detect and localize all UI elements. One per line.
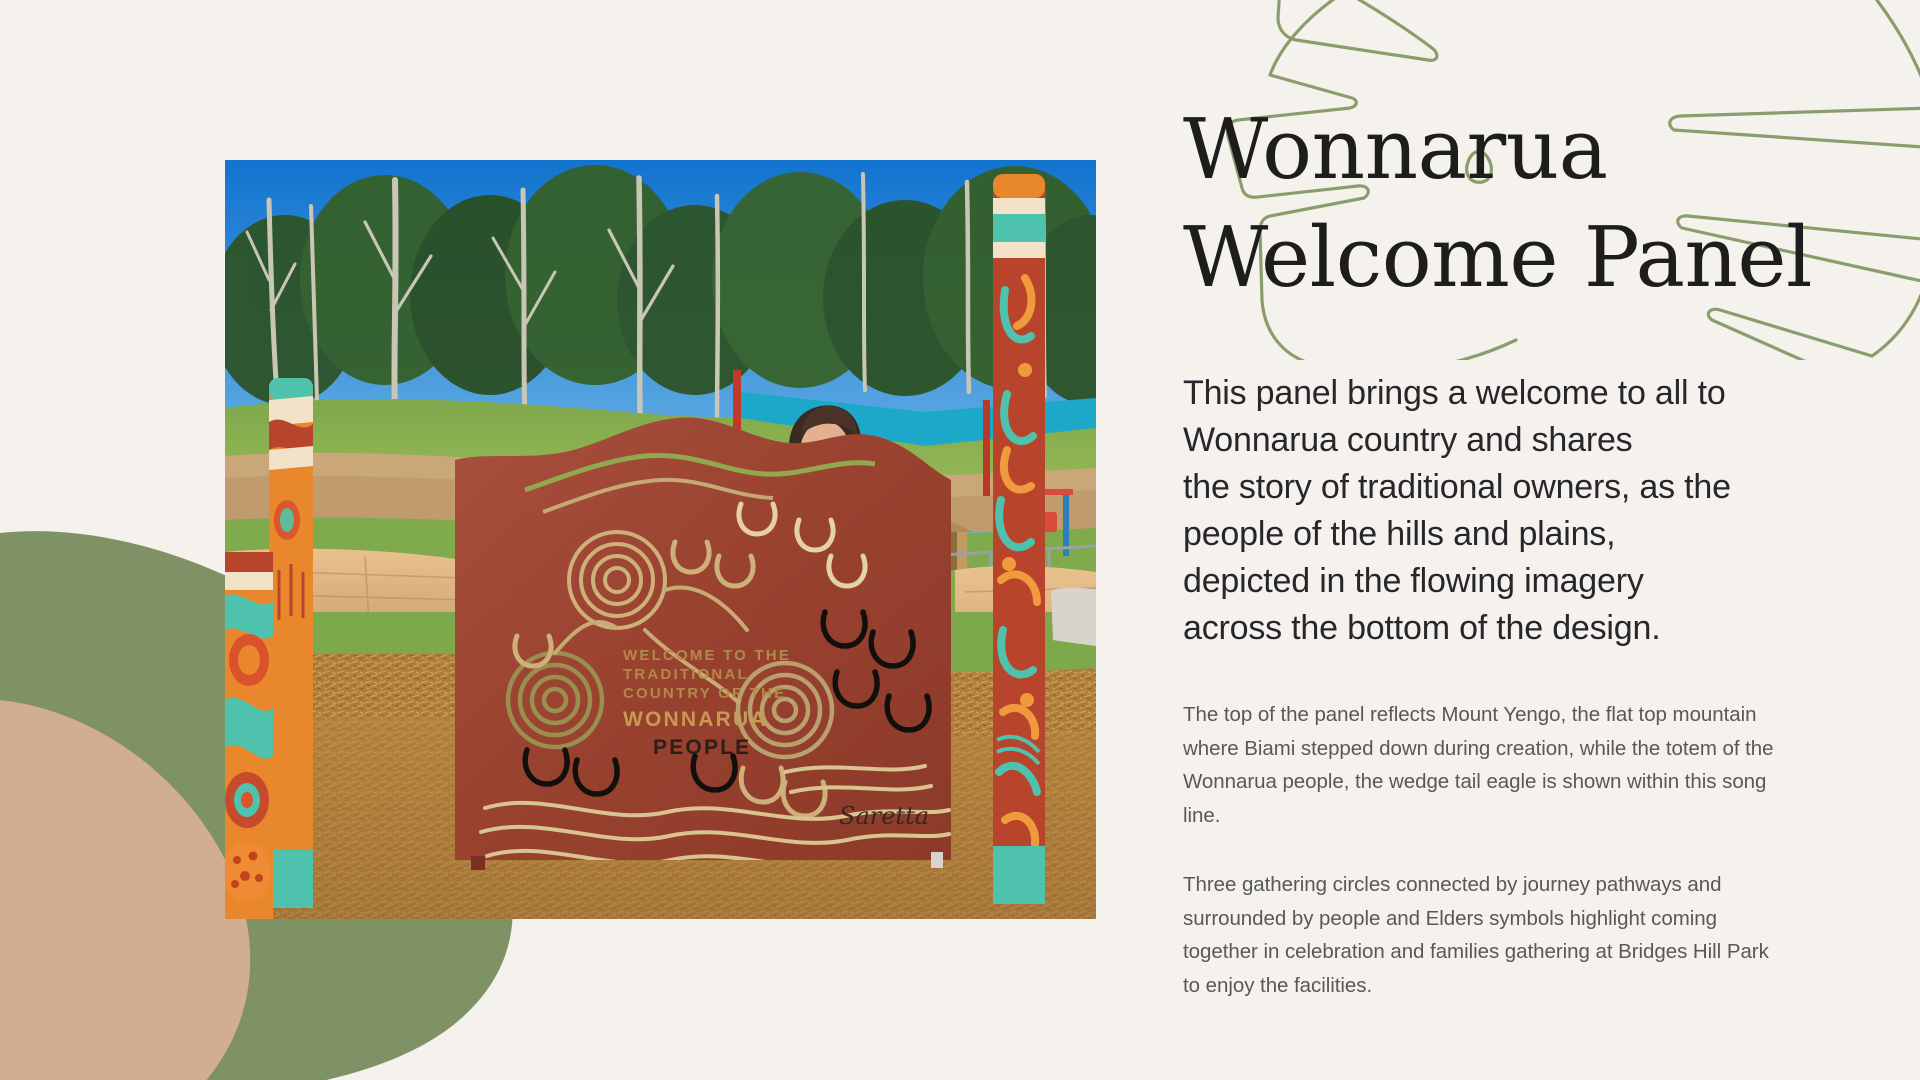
tan-organic-blob — [0, 699, 250, 1080]
totem-pole-right — [993, 174, 1045, 904]
totem-pole-left-front — [225, 552, 273, 919]
lead-line-3: the story of traditional owners, as the — [1183, 464, 1803, 511]
concrete-path — [1051, 588, 1096, 646]
lead-line-5: depicted in the flowing imagery — [1183, 558, 1803, 605]
slide-canvas: WELCOME TO THE TRADITIONAL COUNTRY OF TH… — [0, 0, 1920, 1080]
welcome-panel-sculpture: WELCOME TO THE TRADITIONAL COUNTRY OF TH… — [455, 418, 951, 870]
cutout-line-5: PEOPLE — [653, 736, 751, 759]
page-title: Wonnarua Welcome Panel — [1183, 96, 1803, 312]
welcome-panel-photo: WELCOME TO THE TRADITIONAL COUNTRY OF TH… — [225, 160, 1096, 919]
cutout-line-2: TRADITIONAL — [623, 666, 749, 683]
cutout-line-4: WONNARUA — [623, 708, 768, 731]
photo-scene: WELCOME TO THE TRADITIONAL COUNTRY OF TH… — [225, 160, 1096, 919]
cutout-line-1: WELCOME TO THE — [623, 647, 791, 664]
page-title-line-1: Wonnarua — [1183, 96, 1803, 204]
text-column: Wonnarua Welcome Panel This panel brings… — [1183, 96, 1803, 1002]
artist-signature: Saretta — [839, 802, 929, 830]
lead-line-2: Wonnarua country and shares — [1183, 417, 1803, 464]
body-paragraph-2: The top of the panel reflects Mount Yeng… — [1183, 698, 1783, 832]
lead-line-1: This panel brings a welcome to all to — [1183, 370, 1803, 417]
lead-line-4: people of the hills and plains, — [1183, 511, 1803, 558]
body-paragraph-3: Three gathering circles connected by jou… — [1183, 868, 1783, 1002]
page-title-line-2: Welcome Panel — [1183, 204, 1803, 312]
lead-line-6: across the bottom of the design. — [1183, 605, 1803, 652]
lead-paragraph: This panel brings a welcome to all to Wo… — [1183, 370, 1803, 652]
cutout-line-3: COUNTRY OF THE — [623, 685, 786, 702]
totem-pole-left-rear — [269, 378, 313, 908]
